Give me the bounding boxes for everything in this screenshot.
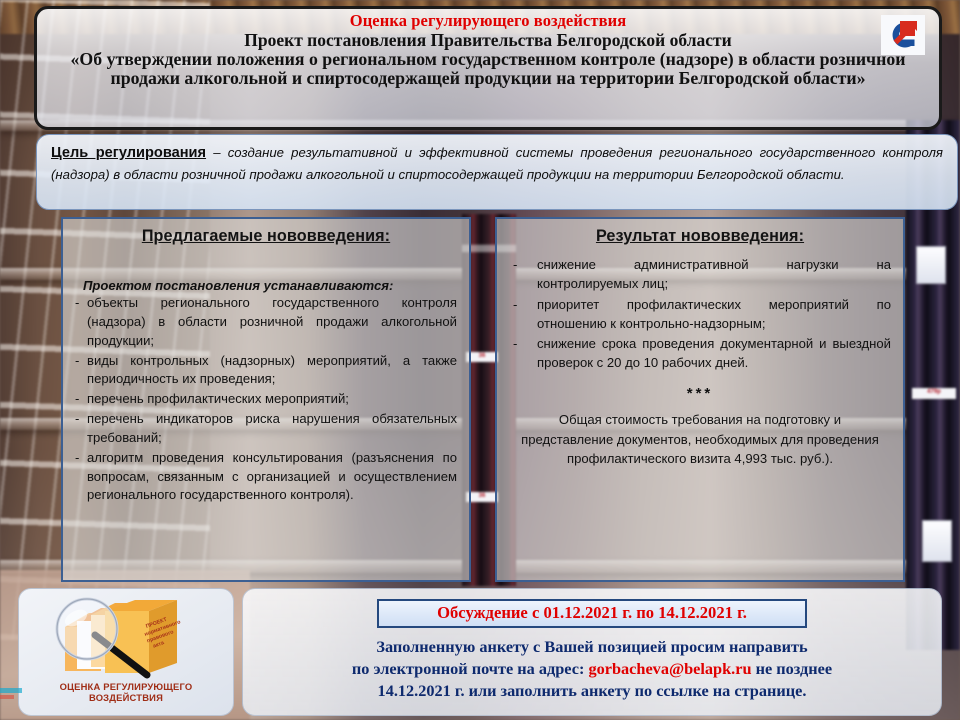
bullet-text: алгоритм проведения консультирования (ра… bbox=[87, 449, 457, 506]
bullet-dash: - bbox=[75, 294, 87, 351]
bullet-dash: - bbox=[509, 296, 537, 334]
list-item: - перечень индикаторов риска нарушения о… bbox=[75, 410, 457, 448]
bullet-dash: - bbox=[75, 390, 87, 409]
list-item: - алгоритм проведения консультирования (… bbox=[75, 449, 457, 506]
list-item: - виды контрольных (надзорных) мероприят… bbox=[75, 352, 457, 390]
orv-emblem-caption-line-2: ВОЗДЕЙСТВИЯ bbox=[19, 692, 233, 704]
orv-arrow-logo-icon bbox=[881, 15, 925, 55]
orv-emblem-caption: ОЦЕНКА РЕГУЛИРУЮЩЕГО ВОЗДЕЙСТВИЯ bbox=[19, 681, 233, 705]
regulation-goal-label: Цель регулирования bbox=[51, 145, 206, 161]
header-title-line-1: Оценка регулирующего воздействия bbox=[47, 12, 929, 30]
list-item: - перечень профилактических мероприятий; bbox=[75, 390, 457, 409]
partial-watermark-logo-icon bbox=[0, 648, 36, 702]
panel-left-subtitle: Проектом постановления устанавливаются: bbox=[75, 248, 457, 293]
bullet-text: объекты регионального государственного к… bbox=[87, 294, 457, 351]
bullet-text: снижение срока проведения документарной … bbox=[537, 335, 891, 373]
bullet-text: приоритет профилактических мероприятий п… bbox=[537, 296, 891, 334]
contact-line-2: по электронной почте на адрес: gorbachev… bbox=[255, 658, 929, 680]
header-title-line-2: Проект постановления Правительства Белго… bbox=[47, 30, 929, 50]
contact-line-2-suffix: не позднее bbox=[752, 659, 833, 678]
bullet-text: снижение административной нагрузки на ко… bbox=[537, 256, 891, 294]
panel-right-title: Результат нововведения: bbox=[509, 227, 891, 248]
header-title-line-3: «Об утверждении положения о региональном… bbox=[47, 49, 929, 88]
magnifier-over-folders-icon: ПРОЕКТ нормативного правового акта bbox=[43, 597, 213, 689]
header-banner: Оценка регулирующего воздействия Проект … bbox=[34, 6, 942, 130]
orv-emblem-card: ПРОЕКТ нормативного правового акта ОЦЕНК… bbox=[18, 588, 234, 716]
contact-instructions: Заполненную анкету с Вашей позицией прос… bbox=[255, 628, 929, 701]
orv-emblem-caption-line-1: ОЦЕНКА РЕГУЛИРУЮЩЕГО bbox=[19, 681, 233, 693]
bullet-dash: - bbox=[509, 335, 537, 373]
bullet-dash: - bbox=[75, 449, 87, 506]
regulation-goal-dash: – bbox=[206, 145, 228, 160]
contact-line-1: Заполненную анкету с Вашей позицией прос… bbox=[255, 636, 929, 658]
list-item: - приоритет профилактических мероприятий… bbox=[509, 296, 891, 334]
panel-left-bullet-list: - объекты регионального государственного… bbox=[75, 294, 457, 505]
footer-row: ПРОЕКТ нормативного правового акта ОЦЕНК… bbox=[16, 588, 944, 720]
list-item: - снижение срока проведения документарно… bbox=[509, 335, 891, 373]
contact-email-link[interactable]: gorbacheva@belapk.ru bbox=[588, 659, 751, 678]
bullet-text: перечень индикаторов риска нарушения обя… bbox=[87, 410, 457, 448]
list-item: - объекты регионального государственного… bbox=[75, 294, 457, 351]
footer-contact-block: Обсуждение с 01.12.2021 г. по 14.12.2021… bbox=[242, 588, 942, 716]
bullet-text: виды контрольных (надзорных) мероприятий… bbox=[87, 352, 457, 390]
regulation-goal-box: Цель регулирования – создание результати… bbox=[36, 134, 958, 210]
bullet-dash: - bbox=[509, 256, 537, 294]
panel-right-bullet-list: - снижение административной нагрузки на … bbox=[509, 248, 891, 373]
panel-left-title: Предлагаемые нововведения: bbox=[75, 227, 457, 248]
list-item: - снижение административной нагрузки на … bbox=[509, 256, 891, 294]
panels-row: Предлагаемые нововведения: Проектом пост… bbox=[16, 217, 944, 582]
bullet-text: перечень профилактических мероприятий; bbox=[87, 390, 457, 409]
bullet-dash: - bbox=[75, 352, 87, 390]
contact-line-3: 14.12.2021 г. или заполнить анкету по сс… bbox=[255, 680, 929, 702]
panel-innovation-result: Результат нововведения: - снижение админ… bbox=[495, 217, 905, 582]
contact-line-2-prefix: по электронной почте на адрес: bbox=[352, 659, 589, 678]
discussion-period-badge: Обсуждение с 01.12.2021 г. по 14.12.2021… bbox=[377, 599, 807, 628]
panel-right-separator: *** bbox=[509, 373, 891, 410]
panel-right-cost-note: Общая стоимость требования на подготовку… bbox=[509, 410, 891, 469]
panel-proposed-innovations: Предлагаемые нововведения: Проектом пост… bbox=[61, 217, 471, 582]
bullet-dash: - bbox=[75, 410, 87, 448]
